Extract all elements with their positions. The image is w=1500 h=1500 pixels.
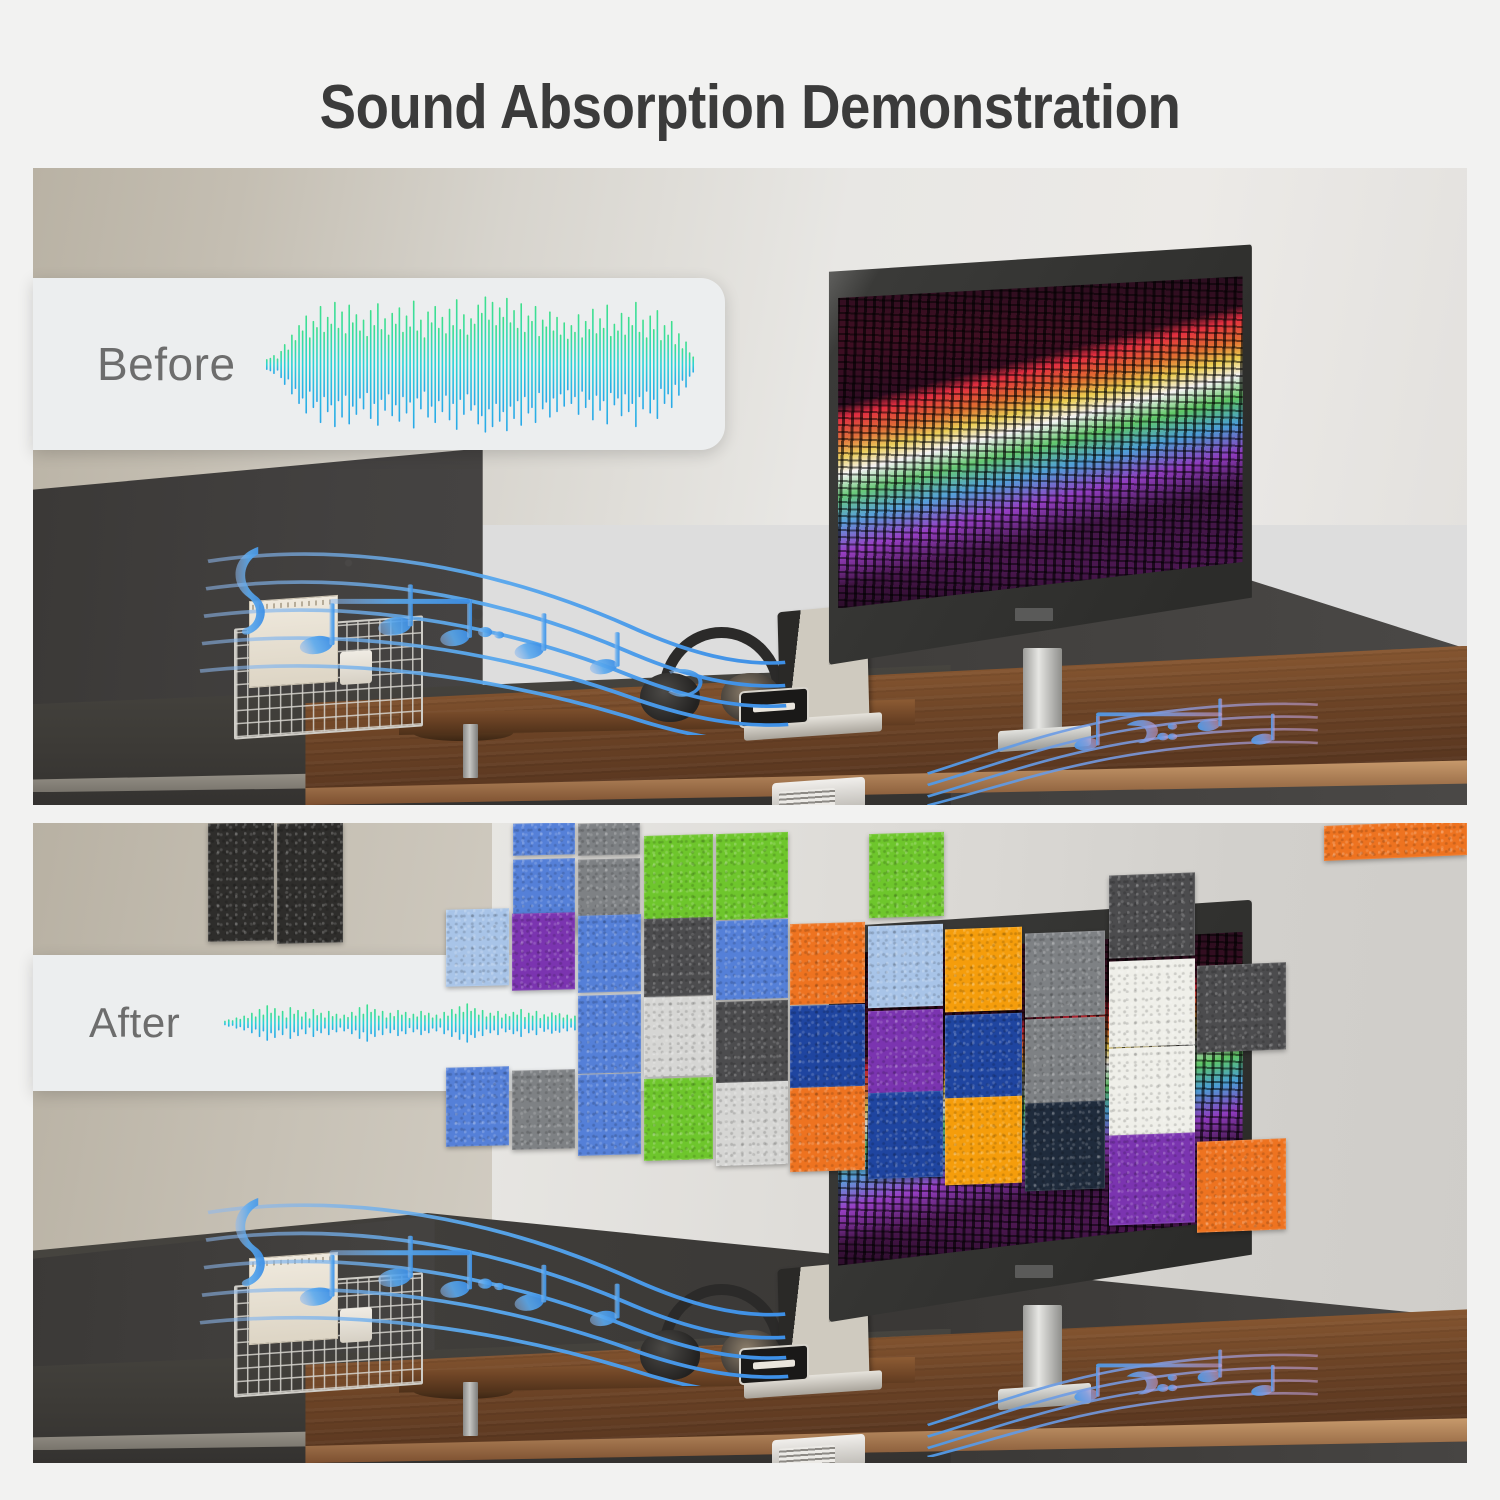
monitor-brand-logo [1015, 608, 1053, 621]
acoustic-panel [1197, 1139, 1286, 1233]
wire-file-organizer [234, 1279, 423, 1391]
acoustic-panel [1109, 873, 1195, 959]
organizer-small-item [340, 650, 372, 686]
acoustic-panel [644, 834, 713, 923]
phone-dock [739, 686, 809, 728]
acoustic-panel [446, 909, 509, 987]
acoustic-panel [512, 1069, 575, 1150]
headphone-cup-left [640, 673, 700, 723]
acoustic-panel [1109, 958, 1195, 1047]
acoustic-panel [1324, 823, 1467, 861]
acoustic-panel [868, 1009, 943, 1095]
riser-leg [463, 724, 477, 778]
before-waveform [265, 292, 695, 437]
acoustic-panel [716, 832, 788, 920]
notebook [249, 1252, 338, 1345]
acoustic-panel [1025, 1101, 1105, 1192]
acoustic-panel [790, 1004, 865, 1088]
acoustic-panel [790, 1086, 865, 1173]
acoustic-panel [1197, 962, 1286, 1053]
before-label-card: Before [33, 278, 725, 450]
after-label: After [89, 999, 180, 1047]
acoustic-panel [716, 1000, 788, 1083]
organizer-small-item [340, 1307, 372, 1343]
acoustic-panel [945, 927, 1022, 1013]
scene-after [33, 823, 1467, 1463]
acoustic-panel [790, 922, 865, 1005]
acoustic-panel [512, 912, 575, 990]
acoustic-panel [578, 914, 641, 992]
acoustic-panel [868, 1091, 943, 1179]
riser-leg [463, 1382, 477, 1436]
notebook [249, 595, 338, 688]
wire-file-organizer [234, 622, 423, 733]
equalizer-grid-overlay [838, 276, 1242, 608]
before-label: Before [97, 337, 236, 391]
before-waveform-container [236, 278, 725, 450]
acoustic-panel [716, 919, 788, 1000]
after-scene-photo [33, 823, 1467, 1463]
acoustic-panel [277, 823, 343, 944]
acoustic-panel [716, 1080, 788, 1165]
acoustic-panel [578, 823, 640, 856]
acoustic-panel [945, 1012, 1022, 1099]
phone-dock [739, 1344, 809, 1386]
monitor-screen [838, 276, 1242, 608]
acoustic-panel [868, 924, 943, 1008]
page-title: Sound Absorption Demonstration [90, 72, 1410, 143]
acoustic-panel [1109, 1132, 1195, 1225]
monitor-stand-neck [1023, 648, 1061, 732]
before-scene-photo [33, 168, 1467, 805]
acoustic-panel [945, 1096, 1022, 1186]
acoustic-panel [644, 1077, 713, 1161]
acoustic-panel [446, 1067, 509, 1148]
acoustic-panel [1025, 1016, 1105, 1105]
demonstration-page: Sound Absorption Demonstration [0, 0, 1500, 1500]
acoustic-panel [644, 917, 713, 997]
white-fan [772, 1434, 865, 1463]
monitor-stand-neck [1023, 1305, 1061, 1389]
acoustic-panel [578, 994, 641, 1074]
acoustic-panel [578, 1073, 641, 1155]
scene-before [33, 168, 1467, 805]
acoustic-panel [1025, 930, 1105, 1017]
acoustic-panel [513, 823, 575, 856]
acoustic-panel [644, 996, 713, 1077]
acoustic-panel [869, 832, 944, 919]
monitor-brand-logo [1015, 1265, 1053, 1278]
headphone-cup-left [640, 1330, 700, 1380]
acoustic-panel [1109, 1045, 1195, 1137]
curved-monitor [829, 244, 1252, 664]
acoustic-panel [208, 823, 274, 942]
